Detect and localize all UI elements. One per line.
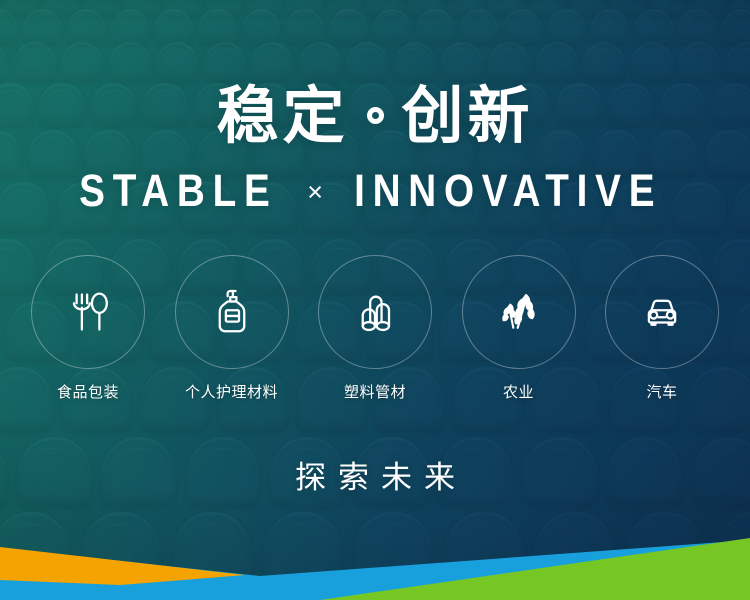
- category-list: 食品包装 个人护理材料: [22, 255, 728, 400]
- plastic-pipes-icon: [347, 284, 403, 340]
- category-icon-circle[interactable]: [318, 255, 432, 369]
- category-icon-circle[interactable]: [31, 255, 145, 369]
- category-label: 食品包装: [57, 385, 119, 400]
- fork-and-spoon-icon: [60, 284, 116, 340]
- category-item-personal-care[interactable]: 个人护理材料: [166, 255, 298, 400]
- headline-chinese: 稳定创新: [0, 86, 750, 148]
- headline-english: STABLE×INNOVATIVE: [0, 168, 750, 213]
- wheat-icon: [491, 284, 547, 340]
- car-icon: [634, 284, 690, 340]
- footer-tagline: 探索未来: [0, 462, 750, 493]
- headline-chinese-left: 稳定: [216, 82, 348, 151]
- category-item-agriculture[interactable]: 农业: [453, 255, 585, 400]
- circle-separator-icon: [367, 107, 384, 124]
- category-icon-circle[interactable]: [462, 255, 576, 369]
- headline-english-right: INNOVATIVE: [354, 168, 662, 213]
- category-item-automotive[interactable]: 汽车: [596, 255, 728, 400]
- bottom-ribbons: [0, 530, 750, 600]
- headline-chinese-right: 创新: [402, 82, 534, 151]
- category-label: 塑料管材: [344, 385, 406, 400]
- category-item-food-packaging[interactable]: 食品包装: [22, 255, 154, 400]
- category-label: 农业: [503, 385, 534, 400]
- category-icon-circle[interactable]: [175, 255, 289, 369]
- banner-content: 稳定创新 STABLE×INNOVATIVE: [0, 0, 750, 600]
- category-label: 汽车: [646, 385, 677, 400]
- pump-bottle-icon: [204, 284, 260, 340]
- promo-banner: 稳定创新 STABLE×INNOVATIVE: [0, 0, 750, 600]
- category-label: 个人护理材料: [185, 385, 278, 400]
- headline-english-left: STABLE: [79, 168, 277, 213]
- category-item-plastic-pipes[interactable]: 塑料管材: [309, 255, 441, 400]
- category-icon-circle[interactable]: [605, 255, 719, 369]
- cross-separator-icon: ×: [307, 179, 323, 206]
